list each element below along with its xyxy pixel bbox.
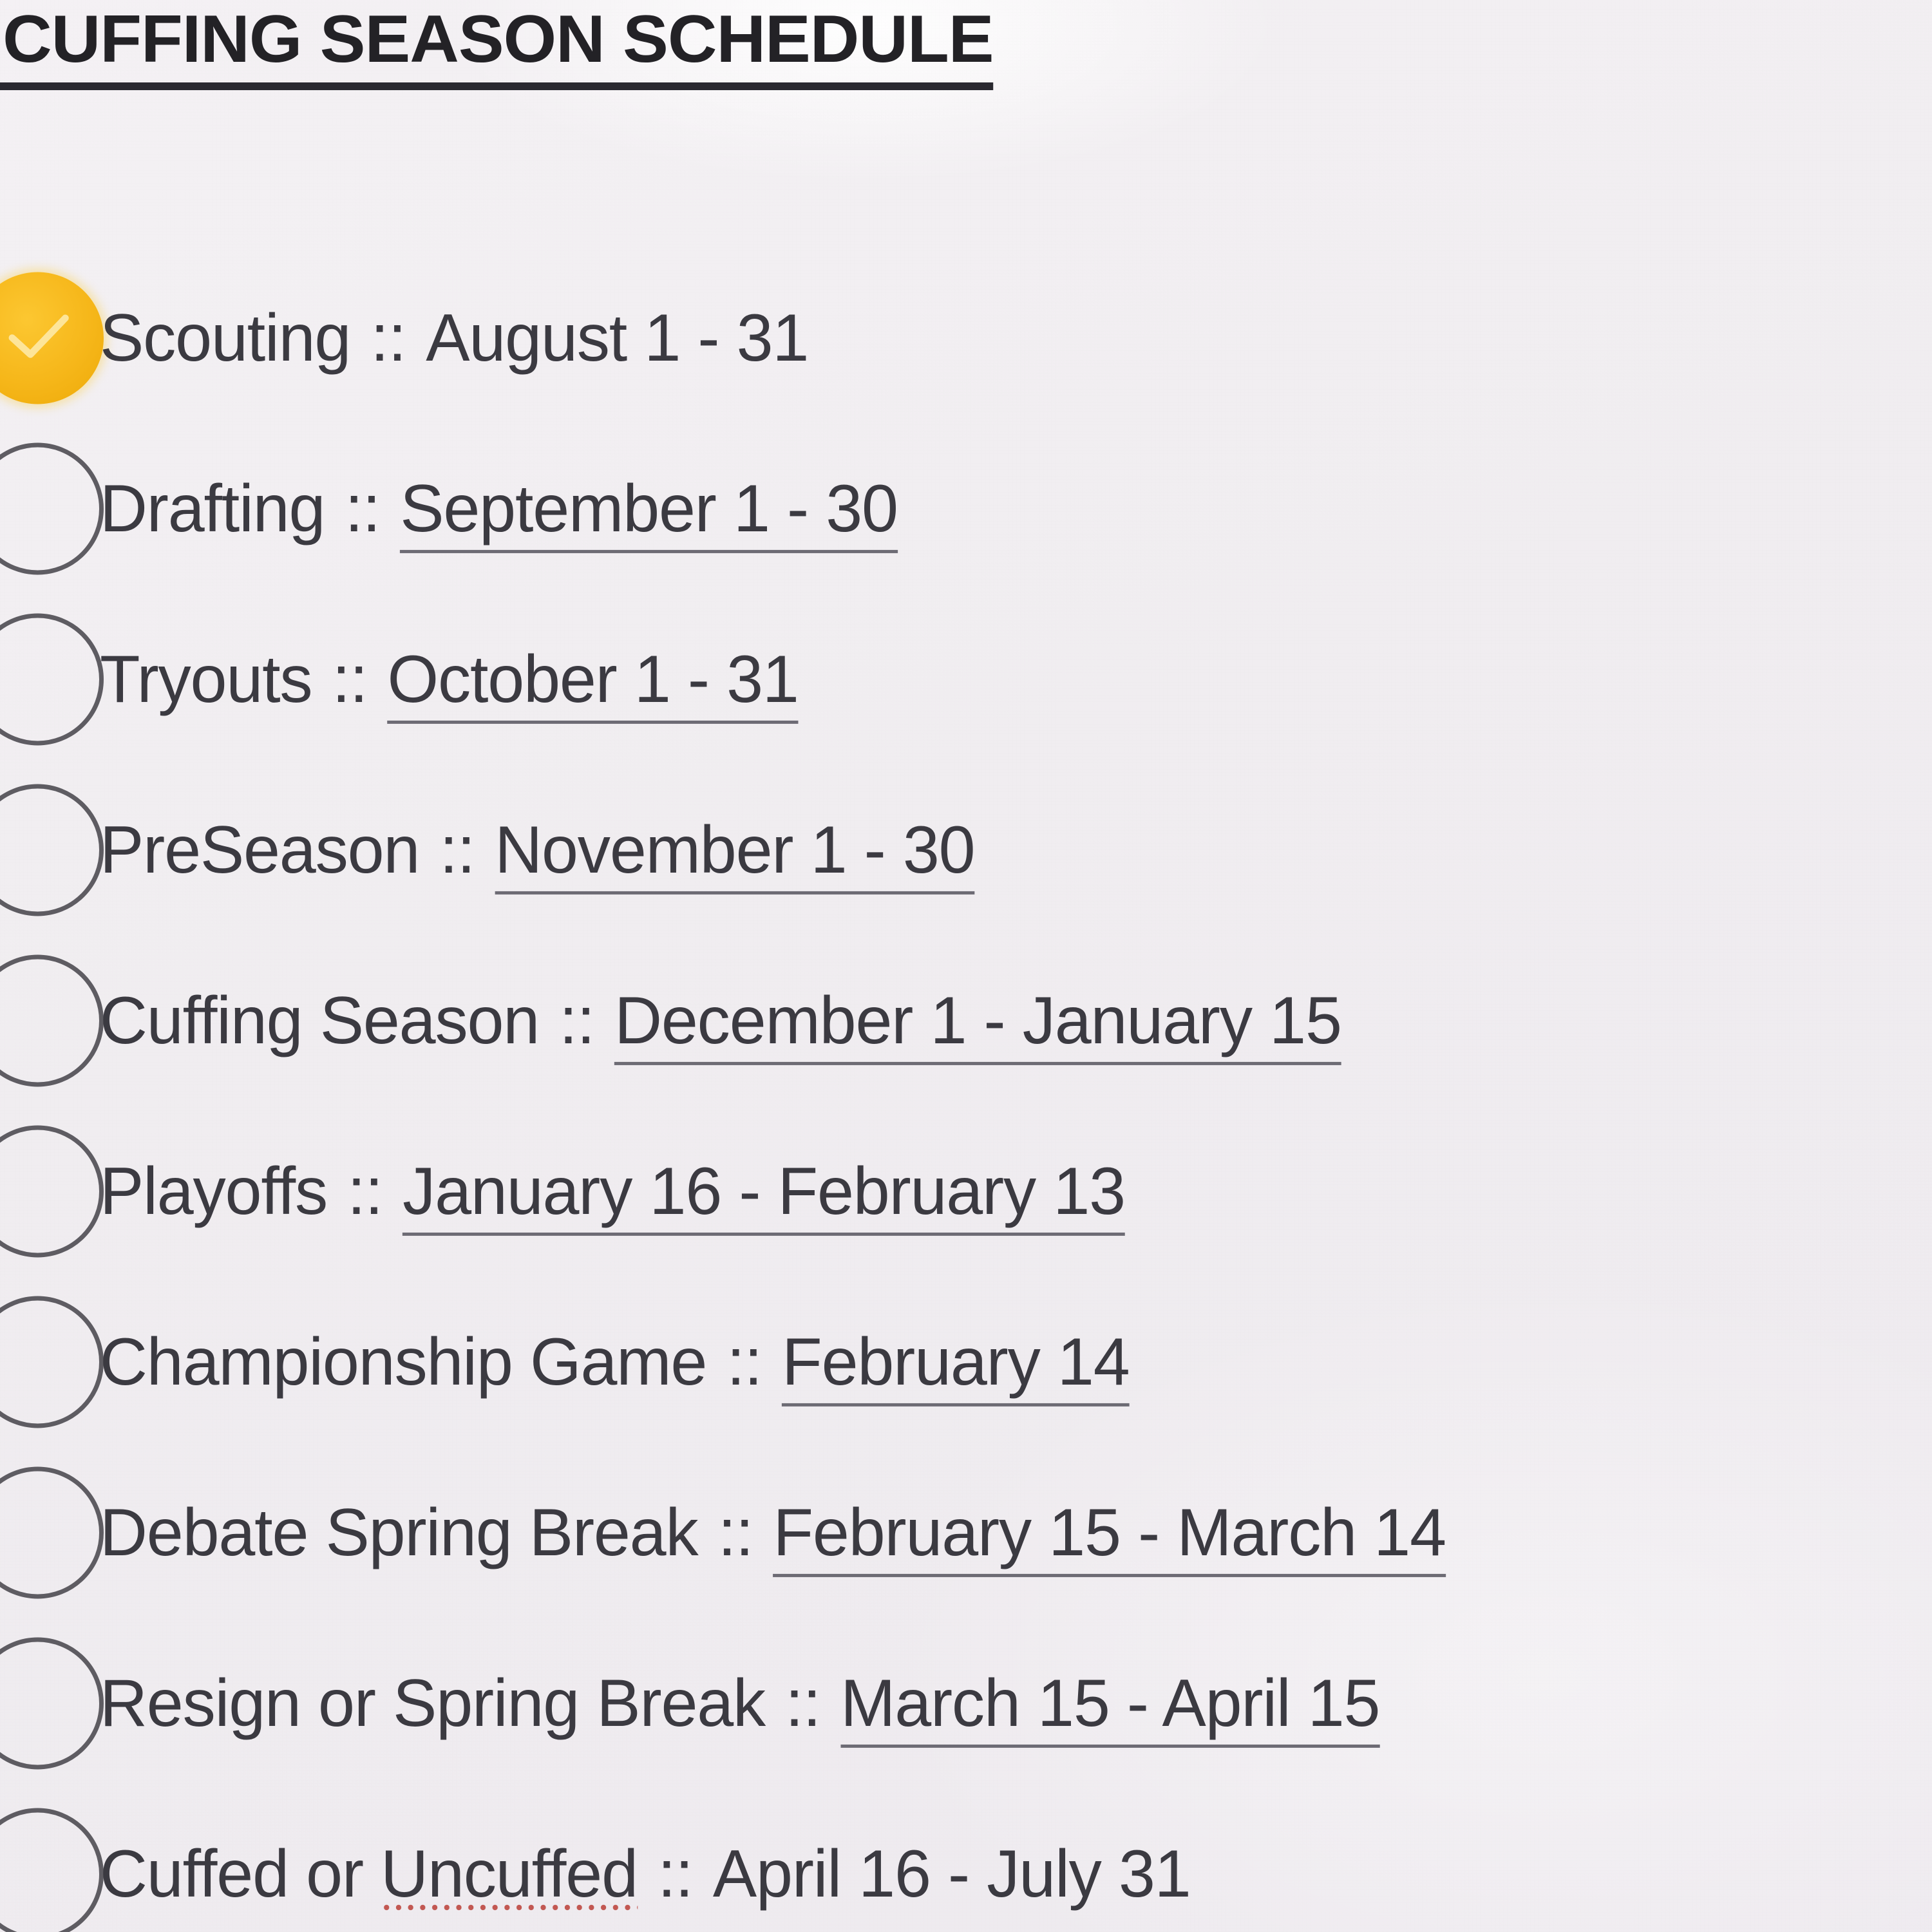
task-label: PreSeason [100,812,419,887]
task-label: Resign or Spring Break [100,1665,765,1740]
checkbox-checked[interactable] [0,272,104,404]
checkbox-unchecked[interactable] [0,1466,104,1598]
schedule-row-text: Drafting :: September 1 - 30 [100,473,898,543]
date-range: August 1 - 31 [426,300,808,375]
date-range: February 14 [782,1324,1129,1406]
date-range: January 16 - February 13 [402,1153,1125,1235]
date-range: February 15 - March 14 [773,1495,1446,1577]
date-range: April 16 - July 31 [713,1836,1191,1911]
separator: :: [698,1495,773,1569]
schedule-row[interactable]: Drafting :: September 1 - 30 [0,423,1932,594]
task-label: Championship Game [100,1324,706,1399]
separator: :: [638,1836,713,1911]
schedule-row-text: Cuffed or Uncuffed :: April 16 - July 31 [100,1839,1191,1908]
schedule-row[interactable]: Resign or Spring Break :: March 15 - Apr… [0,1618,1932,1788]
task-label: Drafting [100,471,325,545]
page-canvas: CUFFING SEASON SCHEDULE Scouting :: Augu… [0,0,1932,1932]
separator: :: [765,1665,840,1740]
date-range: November 1 - 30 [495,812,974,894]
schedule-row-text: Playoffs :: January 16 - February 13 [100,1156,1125,1226]
separator: :: [350,300,426,375]
title-block: CUFFING SEASON SCHEDULE [0,5,1224,90]
checkbox-unchecked[interactable] [0,1125,104,1257]
schedule-row[interactable]: Tryouts :: October 1 - 31 [0,594,1932,764]
checkbox-unchecked[interactable] [0,442,104,574]
spellcheck-misspelled-word: Uncuffed [381,1839,638,1908]
check-icon [0,300,76,376]
schedule-row-text: Resign or Spring Break :: March 15 - Apr… [100,1668,1379,1738]
schedule-row[interactable]: PreSeason :: November 1 - 30 [0,764,1932,935]
task-label: Cuffing Season [100,983,539,1057]
schedule-row-text: PreSeason :: November 1 - 30 [100,815,974,884]
date-range: October 1 - 31 [387,641,798,723]
checkbox-unchecked[interactable] [0,613,104,745]
page-title: CUFFING SEASON SCHEDULE [0,5,993,90]
separator: :: [539,983,614,1057]
task-label: Playoffs [100,1153,327,1228]
task-label: Cuffed or Uncuffed [100,1836,638,1911]
checkbox-unchecked[interactable] [0,784,104,916]
separator: :: [327,1153,402,1228]
date-range: March 15 - April 15 [840,1665,1379,1747]
task-label: Scouting [100,300,350,375]
schedule-row[interactable]: Playoffs :: January 16 - February 13 [0,1106,1932,1276]
separator: :: [419,812,495,887]
schedule-row-text: Scouting :: August 1 - 31 [100,303,808,372]
separator: :: [325,471,400,545]
schedule-row[interactable]: Championship Game :: February 14 [0,1276,1932,1447]
separator: :: [312,641,387,716]
schedule-row[interactable]: Debate Spring Break :: February 15 - Mar… [0,1447,1932,1618]
schedule-row[interactable]: Cuffed or Uncuffed :: April 16 - July 31 [0,1788,1932,1932]
task-label: Debate Spring Break [100,1495,698,1569]
date-range: September 1 - 30 [400,471,898,553]
schedule-row[interactable]: Scouting :: August 1 - 31 [0,252,1932,423]
checkbox-unchecked[interactable] [0,954,104,1086]
checkbox-unchecked[interactable] [0,1296,104,1428]
checkbox-unchecked[interactable] [0,1637,104,1769]
checkbox-unchecked[interactable] [0,1808,104,1932]
date-range: December 1 - January 15 [614,983,1341,1065]
task-label: Tryouts [100,641,312,716]
schedule-row-text: Cuffing Season :: December 1 - January 1… [100,985,1341,1055]
schedule-row-text: Debate Spring Break :: February 15 - Mar… [100,1497,1446,1567]
schedule-list: Scouting :: August 1 - 31Drafting :: Sep… [0,252,1932,1932]
separator: :: [706,1324,782,1399]
schedule-row-text: Championship Game :: February 14 [100,1327,1130,1396]
schedule-row[interactable]: Cuffing Season :: December 1 - January 1… [0,935,1932,1106]
schedule-row-text: Tryouts :: October 1 - 31 [100,644,799,714]
